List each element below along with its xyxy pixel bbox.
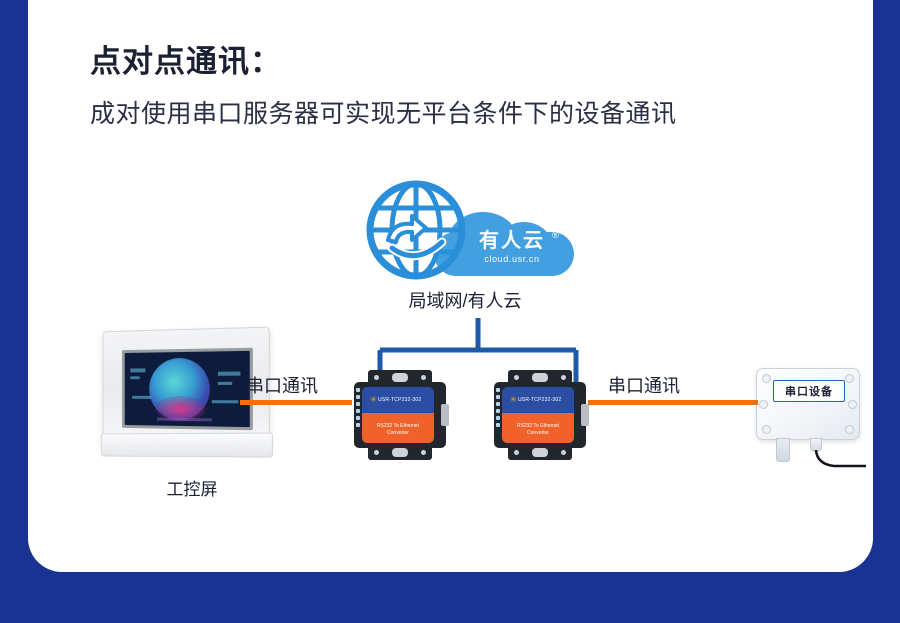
- monitor-base: [101, 433, 273, 458]
- serial-device: 串口设备: [756, 368, 866, 468]
- converter-faceplate: ✳ USR-TCP232-302 RS232 To Ethernet Conve…: [362, 387, 434, 443]
- page-subtitle: 成对使用串口服务器可实现无平台条件下的设备通讯: [90, 94, 677, 130]
- converter-faceplate: ✳ USR-TCP232-302 RS232 To Ethernet Conve…: [502, 387, 574, 443]
- converter-right: ✳ USR-TCP232-302 RS232 To Ethernet Conve…: [492, 370, 588, 460]
- serial-link-right-label: 串口通讯: [608, 372, 680, 398]
- registered-mark: ®: [552, 230, 559, 240]
- converter-function-line1: RS232 To Ethernet: [377, 423, 419, 429]
- monitor-label: 工控屏: [142, 475, 242, 500]
- db9-port: [581, 404, 589, 426]
- serial-link-left-label: 串口通讯: [246, 372, 318, 398]
- globe-icon: [364, 178, 468, 282]
- status-leds: [356, 388, 361, 436]
- status-leds: [496, 388, 501, 436]
- converter-housing: ✳ USR-TCP232-302 RS232 To Ethernet Conve…: [494, 382, 586, 448]
- network-label: 局域网/有人云: [356, 287, 574, 313]
- device-nameplate: 串口设备: [773, 380, 845, 402]
- page-title: 点对点通讯：: [90, 36, 282, 81]
- converter-model: USR-TCP232-302: [378, 397, 421, 403]
- converter-left: ✳ USR-TCP232-302 RS232 To Ethernet Conve…: [352, 370, 448, 460]
- device-cable: [812, 450, 868, 472]
- sensor-vent: [776, 438, 790, 462]
- device-enclosure: 串口设备: [756, 368, 860, 440]
- serial-link-right: [588, 400, 758, 405]
- cloud-brand-url: cloud.usr.cn: [460, 254, 564, 264]
- converter-function-line2: Converter: [527, 430, 549, 436]
- db9-port: [441, 404, 449, 426]
- cloud-brand-cn: 有人云: [460, 230, 564, 252]
- monitor-screen: [125, 351, 250, 427]
- content-card: 点对点通讯： 成对使用串口服务器可实现无平台条件下的设备通讯 有人云: [28, 0, 873, 572]
- poster-page: 点对点通讯： 成对使用串口服务器可实现无平台条件下的设备通讯 有人云: [0, 0, 900, 623]
- converter-function-line1: RS232 To Ethernet: [517, 423, 559, 429]
- mount-ear-bottom: [508, 445, 572, 460]
- cloud-brand: 有人云 cloud.usr.cn: [460, 230, 564, 264]
- converter-function: RS232 To Ethernet Converter: [362, 423, 434, 437]
- serial-device-label: 串口设备: [785, 383, 833, 399]
- converter-housing: ✳ USR-TCP232-302 RS232 To Ethernet Conve…: [354, 382, 446, 448]
- converter-function: RS232 To Ethernet Converter: [502, 423, 574, 437]
- mount-ear-bottom: [368, 445, 432, 460]
- cloud-logo: 有人云 cloud.usr.cn ®: [356, 178, 574, 280]
- converter-function-line2: Converter: [387, 430, 409, 436]
- converter-model: USR-TCP232-302: [518, 397, 561, 403]
- brand-star-icon: ✳: [370, 396, 378, 404]
- serial-link-left: [240, 400, 352, 405]
- brand-star-icon: ✳: [510, 396, 518, 404]
- monitor-bezel: [122, 348, 253, 431]
